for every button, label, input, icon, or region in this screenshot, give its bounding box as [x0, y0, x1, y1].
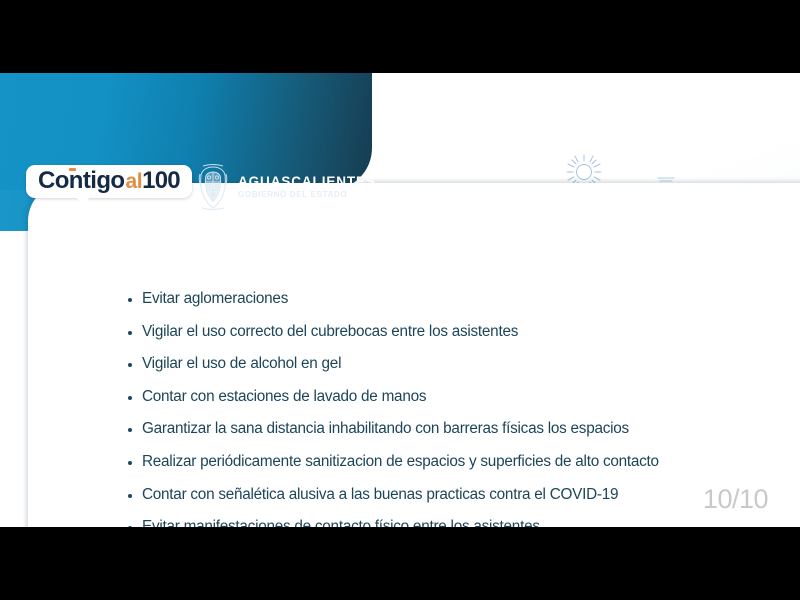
logo-accent-dot-icon — [69, 168, 76, 171]
list-item: Evitar aglomeraciones — [128, 289, 768, 322]
slide-canvas: Contigo al 100 — [0, 73, 800, 527]
list-item-label: Vigilar el uso de alcohol en gel — [142, 354, 341, 375]
government-branding: AGUASCALIENTES GOBIERNO DEL ESTADO — [196, 163, 376, 211]
bullet-dot-icon — [128, 331, 132, 335]
letterbox-top — [0, 0, 800, 73]
list-item: Evitar manifestaciones de contacto físic… — [128, 517, 768, 527]
logo-text-al: al — [125, 171, 142, 192]
government-wordmark: AGUASCALIENTES GOBIERNO DEL ESTADO — [238, 175, 376, 199]
bullet-dot-icon — [128, 298, 132, 302]
list-item: Contar con estaciones de lavado de manos — [128, 387, 768, 420]
recommendations-list: Evitar aglomeraciones Vigilar el uso cor… — [128, 289, 768, 527]
contigo-al-100-logo: Contigo al 100 — [26, 165, 192, 198]
list-item-label: Evitar aglomeraciones — [142, 289, 288, 310]
list-item: Garantizar la sana distancia inhabilitan… — [128, 419, 768, 452]
logo-text-contigo: Contigo — [38, 169, 124, 193]
letterbox-bottom — [0, 527, 800, 600]
gov-subtitle: GOBIERNO DEL ESTADO — [238, 191, 376, 199]
list-item-label: Contar con estaciones de lavado de manos — [142, 387, 426, 408]
bullet-dot-icon — [128, 494, 132, 498]
bullet-dot-icon — [128, 461, 132, 465]
bullet-dot-icon — [128, 428, 132, 432]
list-item-label: Vigilar el uso correcto del cubrebocas e… — [142, 322, 518, 343]
coat-of-arms-seal-icon — [196, 163, 230, 211]
list-item: Vigilar el uso correcto del cubrebocas e… — [128, 322, 768, 355]
page-counter: 10/10 — [703, 484, 768, 515]
gov-title: AGUASCALIENTES — [238, 175, 376, 189]
list-item: Realizar periódicamente sanitizacion de … — [128, 452, 768, 485]
list-item-label: Realizar periódicamente sanitizacion de … — [142, 452, 659, 473]
logo-text-100: 100 — [142, 169, 180, 193]
list-item-label: Contar con señalética alusiva a las buen… — [142, 485, 618, 506]
list-item-label: Garantizar la sana distancia inhabilitan… — [142, 419, 629, 440]
bullet-dot-icon — [128, 396, 132, 400]
bullet-dot-icon — [128, 363, 132, 367]
list-item: Vigilar el uso de alcohol en gel — [128, 354, 768, 387]
list-item-label: Evitar manifestaciones de contacto físic… — [142, 517, 540, 527]
slide-root: Contigo al 100 — [0, 0, 800, 600]
list-item: Contar con señalética alusiva a las buen… — [128, 485, 768, 518]
